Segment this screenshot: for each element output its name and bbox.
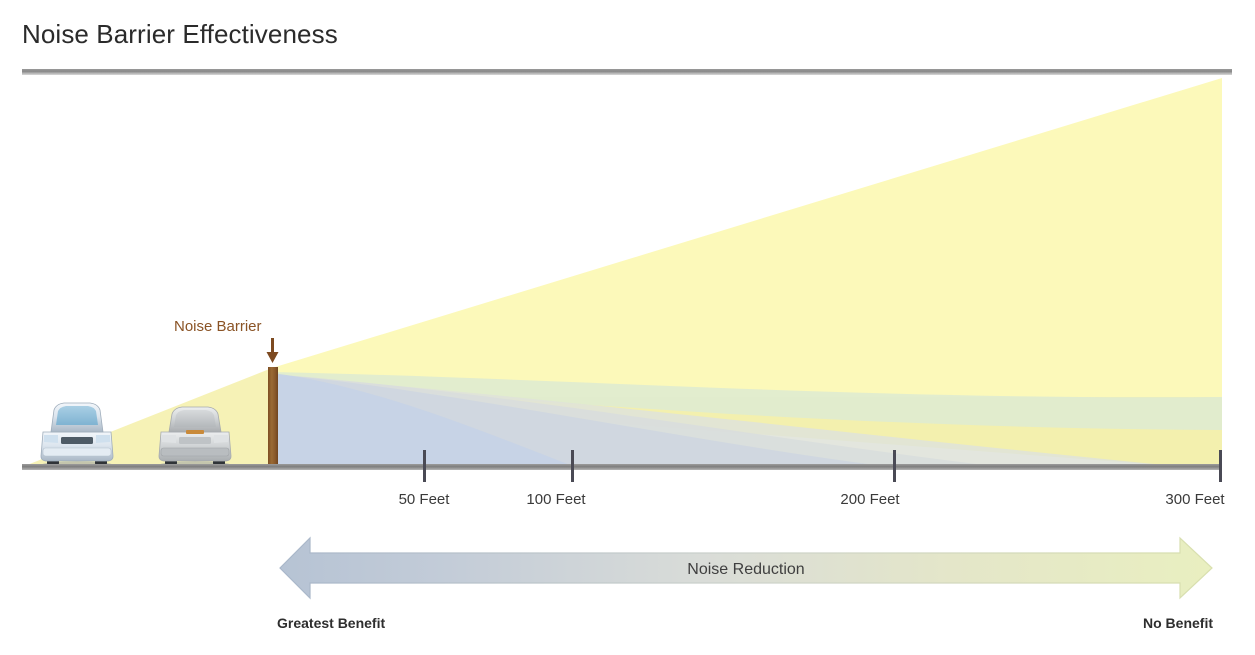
tick-200 [893, 450, 896, 482]
benefit-labels: Greatest Benefit No Benefit [277, 615, 1213, 631]
tick-label-100: 100 Feet [526, 491, 586, 508]
tick-label-50: 50 Feet [399, 491, 451, 508]
tick-50 [423, 450, 426, 482]
no-benefit-label: No Benefit [1143, 615, 1213, 631]
vehicle-white-sedan [41, 403, 113, 469]
axis-tick-labels: 50 Feet 100 Feet 200 Feet 300 Feet [399, 491, 1226, 508]
noise-reduction-label: Noise Reduction [687, 561, 804, 578]
tick-label-200: 200 Feet [840, 491, 900, 508]
greatest-benefit-label: Greatest Benefit [277, 615, 385, 631]
down-arrow-icon [267, 338, 279, 363]
infographic-page: Noise Barrier Effectiveness [0, 0, 1255, 655]
noise-reduction-arrow: Noise Reduction [280, 538, 1212, 598]
noise-barrier-label: Noise Barrier [174, 318, 262, 335]
tick-label-300: 300 Feet [1165, 491, 1225, 508]
tick-300 [1219, 450, 1222, 482]
ground-axis-line [22, 464, 1222, 470]
tick-100 [571, 450, 574, 482]
zone-unobstructed-yellow [272, 78, 1222, 397]
barrier-post [268, 367, 278, 468]
noise-barrier-diagram: Noise Barrier [0, 0, 1255, 655]
